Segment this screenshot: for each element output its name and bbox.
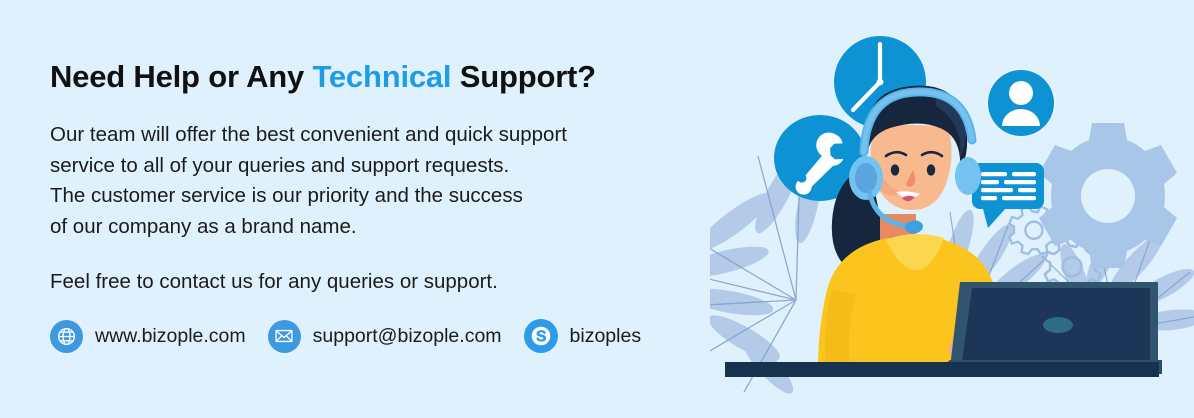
globe-icon	[50, 320, 83, 353]
call-to-action-text: Feel free to contact us for any queries …	[50, 267, 750, 297]
headline-part-2: Support?	[451, 59, 596, 94]
page-title: Need Help or Any Technical Support?	[50, 58, 750, 95]
desk	[725, 362, 1159, 377]
laptop	[932, 282, 1162, 374]
description-line-3: The customer service is our priority and…	[50, 181, 750, 212]
description-line-2: service to all of your queries and suppo…	[50, 151, 750, 182]
user-avatar-icon	[986, 68, 1056, 138]
contact-item-skype[interactable]: bizoples	[524, 319, 642, 353]
chat-bubble-icon	[972, 163, 1044, 228]
email-label: support@bizople.com	[313, 325, 502, 348]
contact-item-website[interactable]: www.bizople.com	[50, 320, 246, 353]
description-line-1: Our team will offer the best convenient …	[50, 120, 750, 151]
contact-row: www.bizople.com support@bizople.com	[50, 319, 641, 353]
description-paragraph: Our team will offer the best convenient …	[50, 120, 750, 242]
headline-accent: Technical	[312, 59, 451, 94]
description-line-4: of our company as a brand name.	[50, 212, 750, 243]
banner-content: Need Help or Any Technical Support? Our …	[50, 58, 750, 297]
contact-item-email[interactable]: support@bizople.com	[268, 320, 502, 353]
skype-label: bizoples	[570, 325, 642, 348]
support-illustration	[710, 0, 1194, 418]
website-label: www.bizople.com	[95, 325, 246, 348]
skype-icon	[524, 319, 558, 353]
headline-part-1: Need Help or Any	[50, 59, 312, 94]
support-banner: Need Help or Any Technical Support? Our …	[0, 0, 1194, 418]
envelope-icon	[268, 320, 301, 353]
